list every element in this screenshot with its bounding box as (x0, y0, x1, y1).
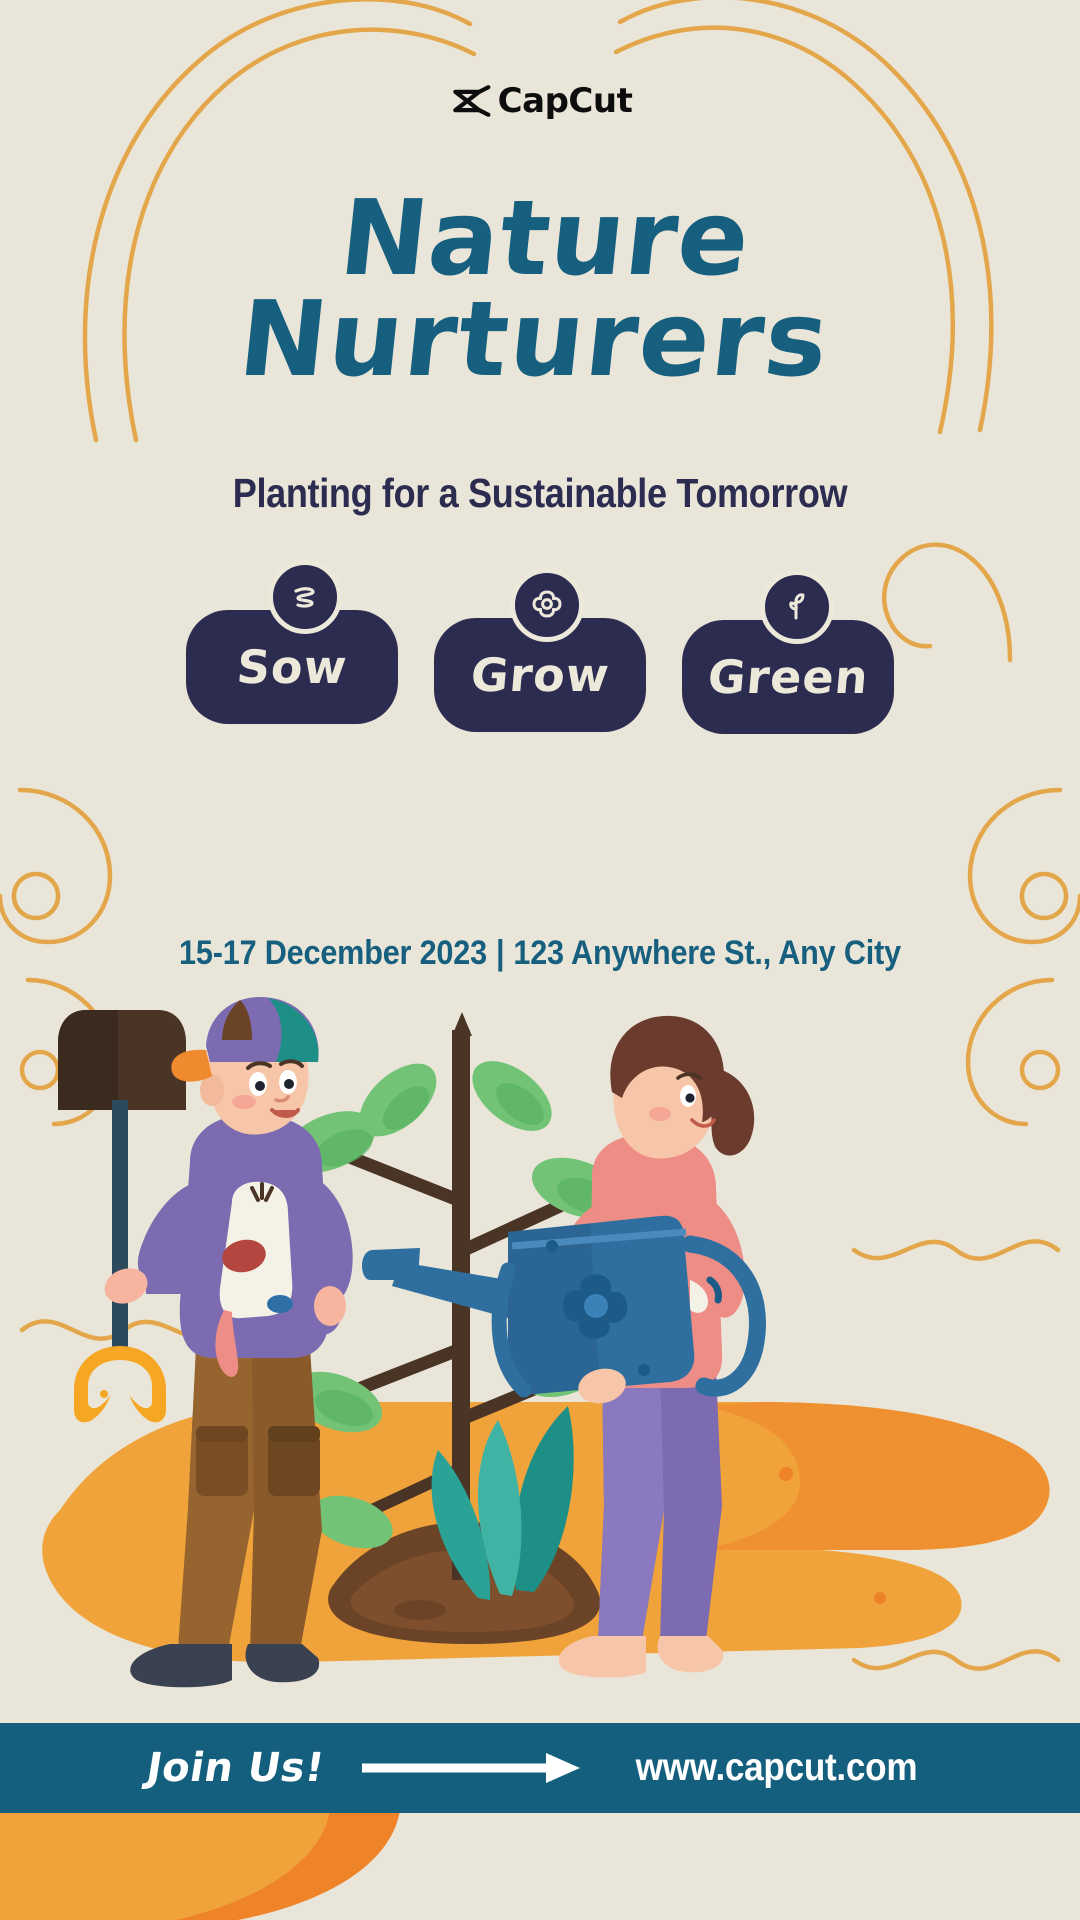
pill-grow-wrap: Grow (434, 598, 646, 732)
capcut-bowtie-mark (448, 84, 492, 118)
subtitle: Planting for a Sustainable Tomorrow (65, 470, 1015, 517)
poster-canvas: CapCut Nature Nurturers Planting for a S… (0, 0, 1080, 1920)
title-line-1: Nature (0, 188, 1080, 289)
flower-icon (510, 568, 584, 642)
right-arrow-icon (362, 1751, 582, 1785)
pill-green-wrap: Green (682, 598, 894, 734)
seed-scribble-icon (268, 560, 342, 634)
sprout-leaf-icon (760, 570, 834, 644)
pill-sow-label: Sow (235, 640, 350, 694)
pill-green-label: Green (705, 650, 870, 704)
join-us-label: Join Us! (143, 1745, 327, 1791)
footer-bar: Join Us! www.capcut.com (0, 1723, 1080, 1813)
page-title: Nature Nurturers (0, 188, 1080, 390)
pill-grow-label: Grow (468, 648, 611, 702)
website-url[interactable]: www.capcut.com (636, 1746, 918, 1790)
capcut-logo: CapCut (0, 84, 1080, 118)
hero-illustration (0, 950, 1080, 1710)
pill-sow-wrap: Sow (186, 598, 398, 724)
logo-wordmark: CapCut (498, 84, 633, 118)
title-line-2: Nurturers (0, 289, 1080, 390)
feature-pill-group: Sow Grow (0, 598, 1080, 734)
bottom-orange-shape (0, 1810, 1080, 1920)
